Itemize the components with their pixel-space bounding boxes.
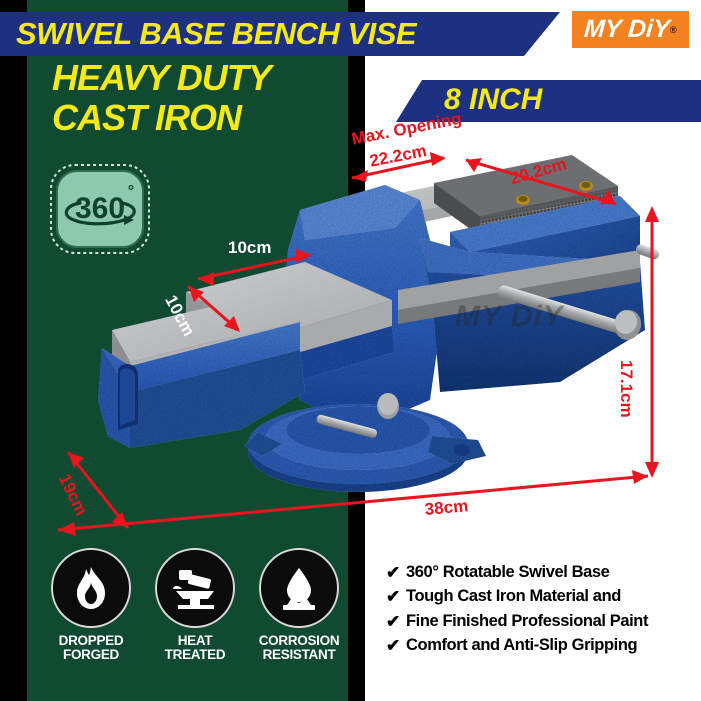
- feature-bullet-list: ✔ 360° Rotatable Swivel Base ✔ Tough Cas…: [386, 562, 648, 659]
- feature-badge-heat-treated: HEAT TREATED: [149, 548, 241, 678]
- check-icon: ✔: [386, 586, 406, 607]
- check-icon: ✔: [386, 611, 406, 632]
- badge-label-line2: TREATED: [165, 648, 226, 662]
- hammer-anvil-icon: [170, 565, 220, 611]
- feature-badge-corrosion-resistant: CORROSION RESISTANT: [253, 548, 345, 678]
- dimension-label-anvil-width: 10cm: [228, 238, 271, 258]
- bullet-text: Fine Finished Professional Paint: [406, 611, 648, 632]
- badge-label-line2: RESISTANT: [259, 648, 340, 662]
- subtitle-line-2: CAST IRON: [52, 100, 241, 136]
- dimension-label-height: 17.1cm: [616, 360, 636, 418]
- title-banner: SWIVEL BASE BENCH VISE: [0, 12, 560, 56]
- rotation-360-badge: 360 °: [48, 162, 152, 256]
- badge-label-line1: CORROSION: [259, 634, 340, 648]
- feature-badge-dropped-forged: DROPPED FORGED: [45, 548, 137, 678]
- check-icon: ✔: [386, 635, 406, 656]
- list-item: ✔ Tough Cast Iron Material and: [386, 586, 648, 607]
- water-droplet-icon: [277, 565, 321, 611]
- badge-label-line1: HEAT: [165, 634, 226, 648]
- dimension-label-overall-length: 38cm: [424, 496, 469, 520]
- left-black-strip: [0, 0, 27, 701]
- bullet-text: Comfort and Anti-Slip Gripping: [406, 635, 637, 656]
- brand-logo: MY DiY ®: [572, 11, 689, 48]
- list-item: ✔ Fine Finished Professional Paint: [386, 611, 648, 632]
- registered-mark-icon: ®: [670, 25, 677, 35]
- center-black-divider: [348, 0, 365, 701]
- badge-360-number: 360: [75, 192, 125, 225]
- list-item: ✔ 360° Rotatable Swivel Base: [386, 562, 648, 583]
- badge-label-line1: DROPPED: [59, 634, 124, 648]
- badge-circle: [155, 548, 235, 628]
- badge-degree-symbol: °: [128, 183, 134, 200]
- badge-circle: [51, 548, 131, 628]
- page-title: SWIVEL BASE BENCH VISE: [16, 16, 416, 52]
- list-item: ✔ Comfort and Anti-Slip Gripping: [386, 635, 648, 656]
- bullet-text: 360° Rotatable Swivel Base: [406, 562, 609, 583]
- feature-badge-group: DROPPED FORGED HEAT TREATED: [45, 548, 345, 678]
- bullet-text: Tough Cast Iron Material and: [406, 586, 621, 607]
- brand-logo-text: MY DiY: [583, 17, 670, 42]
- flame-icon: [69, 565, 113, 611]
- watermark: MY DiY: [455, 300, 564, 334]
- product-listing-image: MY DiY SWIVEL BASE BENCH VISE MY DiY ® H…: [0, 0, 701, 701]
- check-icon: ✔: [386, 562, 406, 583]
- subtitle-line-1: HEAVY DUTY: [52, 60, 271, 96]
- badge-label-line2: FORGED: [59, 648, 124, 662]
- badge-circle: [259, 548, 339, 628]
